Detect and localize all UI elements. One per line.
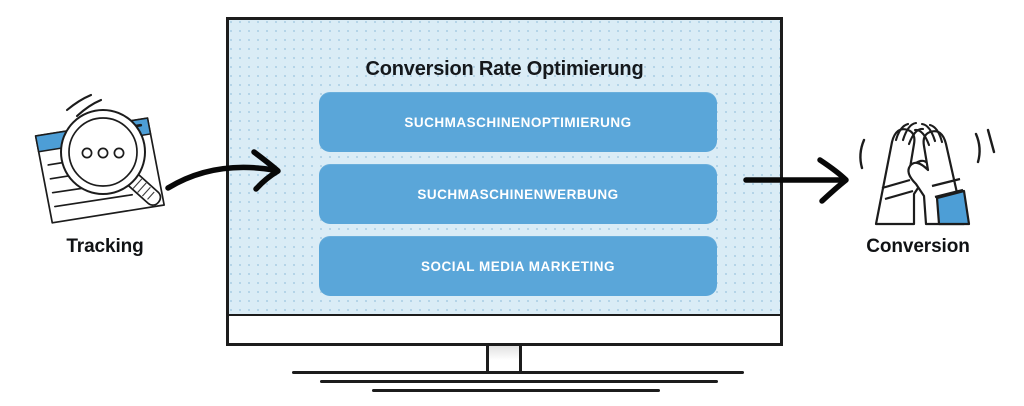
monitor-base-line	[372, 389, 660, 392]
monitor-base-line	[320, 380, 718, 383]
service-bar-label: SOCIAL MEDIA MARKETING	[421, 259, 615, 274]
tracking-label: Tracking	[5, 236, 205, 258]
screen-title: Conversion Rate Optimierung	[229, 58, 780, 81]
monitor-screen: Conversion Rate Optimierung SUCHMASCHINE…	[229, 20, 780, 316]
arrow-tracking-to-monitor-icon	[162, 140, 292, 210]
service-bar-sea[interactable]: SUCHMASCHINENWERBUNG	[319, 164, 717, 224]
conversion-label: Conversion	[818, 236, 1018, 258]
computer-monitor: Conversion Rate Optimierung SUCHMASCHINE…	[226, 17, 783, 346]
conversion-stage: Conversion	[818, 82, 1018, 258]
high-five-hands-icon	[818, 82, 1018, 232]
service-bar-label: SUCHMASCHINENOPTIMIERUNG	[404, 115, 631, 130]
service-bar-seo[interactable]: SUCHMASCHINENOPTIMIERUNG	[319, 92, 717, 152]
monitor-bottom-bezel	[229, 316, 780, 343]
service-bar-social-media[interactable]: SOCIAL MEDIA MARKETING	[319, 236, 717, 296]
service-bar-label: SUCHMASCHINENWERBUNG	[417, 187, 618, 202]
monitor-stand-neck	[486, 346, 522, 372]
infographic-canvas: Tracking Conversion Rate Optimierung SUC…	[0, 0, 1024, 406]
monitor-base-line	[292, 371, 744, 374]
